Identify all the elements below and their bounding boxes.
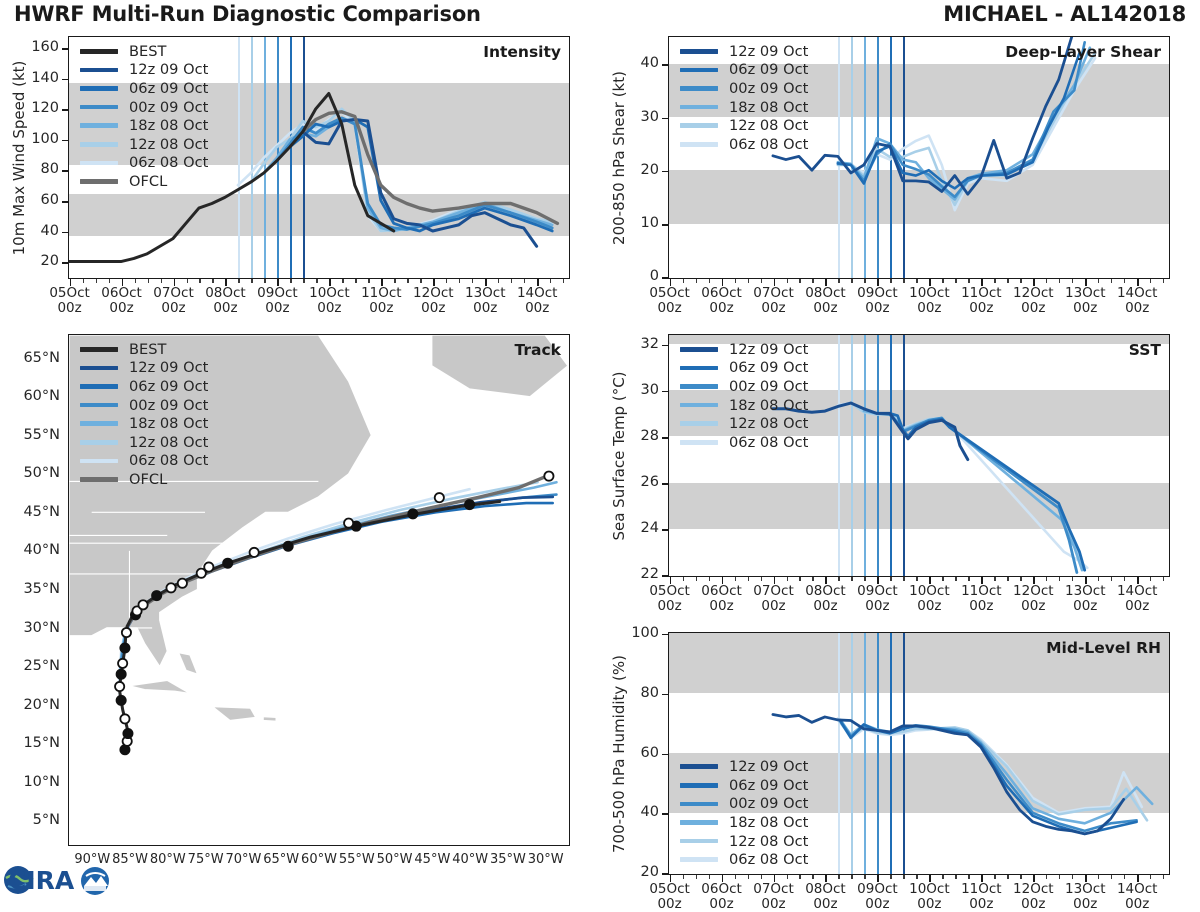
panel-title-track: Track <box>515 341 561 359</box>
legend-line-swatch <box>80 105 118 110</box>
legend-line-swatch <box>80 459 118 464</box>
legend-item: 18z 08 Oct <box>680 813 808 832</box>
legend-label: 06z 09 Oct <box>129 378 208 395</box>
legend-line-swatch <box>80 440 118 445</box>
legend-item: OFCL <box>80 172 208 191</box>
track-marker <box>120 714 129 723</box>
legend-line-swatch <box>680 421 718 426</box>
legend-item: 06z 08 Oct <box>80 452 208 471</box>
track-marker <box>344 519 353 528</box>
lat-tick-label: 5°N <box>33 812 60 828</box>
legend-item: 06z 08 Oct <box>80 154 208 173</box>
legend-label: 06z 08 Oct <box>729 136 808 153</box>
landmass <box>263 717 276 722</box>
legend-label: 06z 08 Oct <box>129 154 208 171</box>
legend-line-swatch <box>80 421 118 426</box>
legend-line-swatch <box>80 123 118 128</box>
legend-label: 00z 09 Oct <box>729 378 808 395</box>
legend-line-swatch <box>680 142 718 147</box>
legend-label: 12z 09 Oct <box>129 359 208 376</box>
track-marker <box>435 493 444 502</box>
legend-line-swatch <box>680 764 718 769</box>
legend-item: BEST <box>80 42 208 61</box>
track-marker <box>544 471 553 480</box>
landmass <box>69 721 509 844</box>
track-marker <box>152 591 161 600</box>
legend-line-swatch <box>680 123 718 128</box>
landmass <box>213 707 256 721</box>
legend-item: 06z 08 Oct <box>680 850 808 869</box>
lat-tick-label: 60°N <box>23 388 60 404</box>
track-marker <box>166 583 175 592</box>
legend-shear: 12z 09 Oct06z 09 Oct00z 09 Oct18z 08 Oct… <box>680 42 808 154</box>
cira-wordmark: CIRA <box>8 866 75 895</box>
legend-line-swatch <box>680 86 718 91</box>
legend-line-swatch <box>80 347 118 352</box>
legend-label: 00z 09 Oct <box>729 795 808 812</box>
legend-item: 12z 09 Oct <box>80 359 208 378</box>
legend-item: 12z 08 Oct <box>680 414 808 433</box>
lat-tick-label: 65°N <box>23 350 60 366</box>
track-marker <box>117 696 126 705</box>
legend-label: 06z 09 Oct <box>729 61 808 78</box>
legend-line-swatch <box>80 179 118 184</box>
legend-line-swatch <box>80 68 118 73</box>
cira-logo-svg: CIRA <box>2 856 120 900</box>
legend-item: 06z 09 Oct <box>680 359 808 378</box>
legend-item: 06z 09 Oct <box>680 776 808 795</box>
lat-tick-label: 20°N <box>23 697 60 713</box>
legend-line-swatch <box>80 49 118 54</box>
legend-sst: 12z 09 Oct06z 09 Oct00z 09 Oct18z 08 Oct… <box>680 340 808 452</box>
legend-item: 06z 09 Oct <box>80 79 208 98</box>
legend-label: OFCL <box>129 173 167 190</box>
legend-line-swatch <box>680 857 718 862</box>
landmass <box>130 680 190 693</box>
lat-tick-label: 10°N <box>23 774 60 790</box>
legend-item: 18z 08 Oct <box>80 116 208 135</box>
lat-tick-label: 25°N <box>23 658 60 674</box>
legend-line-swatch <box>80 403 118 408</box>
legend-line-swatch <box>80 86 118 91</box>
legend-item: 12z 08 Oct <box>680 832 808 851</box>
legend-label: 00z 09 Oct <box>129 99 208 116</box>
track-marker <box>204 562 213 571</box>
legend-line-swatch <box>680 68 718 73</box>
legend-line-swatch <box>80 477 118 482</box>
legend-item: 12z 09 Oct <box>680 42 808 61</box>
legend-item: 12z 09 Oct <box>80 61 208 80</box>
track-marker <box>122 628 131 637</box>
legend-line-swatch <box>680 440 718 445</box>
legend-label: 12z 08 Oct <box>729 415 808 432</box>
legend-item: 12z 08 Oct <box>80 135 208 154</box>
lat-tick-label: 45°N <box>23 504 60 520</box>
legend-label: BEST <box>129 43 166 60</box>
legend-item: 00z 09 Oct <box>80 98 208 117</box>
panel-title-shear: Deep-Layer Shear <box>1005 43 1161 61</box>
legend-label: 12z 09 Oct <box>729 341 808 358</box>
legend-rh: 12z 09 Oct06z 09 Oct00z 09 Oct18z 08 Oct… <box>680 757 808 869</box>
legend-line-swatch <box>80 366 118 371</box>
legend-label: 18z 08 Oct <box>729 397 808 414</box>
legend-line-swatch <box>680 366 718 371</box>
legend-line-swatch <box>680 783 718 788</box>
legend-item: 06z 09 Oct <box>80 377 208 396</box>
legend-label: 06z 09 Oct <box>729 777 808 794</box>
panel-title-rh: Mid-Level RH <box>1046 639 1161 657</box>
lat-tick-label: 50°N <box>23 465 60 481</box>
track-marker <box>118 659 127 668</box>
legend-line-swatch <box>680 403 718 408</box>
track-marker <box>117 670 126 679</box>
lat-tick-label: 40°N <box>23 542 60 558</box>
legend-item: 18z 08 Oct <box>80 414 208 433</box>
lon-tick-label: 30°W <box>521 853 571 867</box>
legend-item: 12z 08 Oct <box>680 116 808 135</box>
legend-item: 12z 08 Oct <box>80 433 208 452</box>
legend-line-swatch <box>680 105 718 110</box>
legend-track: BEST12z 09 Oct06z 09 Oct00z 09 Oct18z 08… <box>80 340 208 489</box>
legend-item: 06z 08 Oct <box>680 135 808 154</box>
legend-line-swatch <box>680 839 718 844</box>
legend-label: 18z 08 Oct <box>129 117 208 134</box>
legend-label: OFCL <box>129 471 167 488</box>
track-marker <box>284 542 293 551</box>
panel-title-sst: SST <box>1129 341 1161 359</box>
legend-item: 12z 09 Oct <box>680 757 808 776</box>
legend-item: 18z 08 Oct <box>680 396 808 415</box>
legend-label: 00z 09 Oct <box>129 397 208 414</box>
legend-item: 06z 08 Oct <box>680 433 808 452</box>
legend-item: 00z 09 Oct <box>680 795 808 814</box>
cira-logo: CIRA <box>2 856 120 900</box>
legend-label: 12z 09 Oct <box>729 43 808 60</box>
legend-label: 12z 09 Oct <box>729 758 808 775</box>
legend-label: 06z 08 Oct <box>729 851 808 868</box>
legend-item: 12z 09 Oct <box>680 340 808 359</box>
lat-tick-label: 35°N <box>23 581 60 597</box>
legend-label: 18z 08 Oct <box>129 415 208 432</box>
legend-label: BEST <box>129 341 166 358</box>
legend-label: 06z 09 Oct <box>729 359 808 376</box>
legend-item: BEST <box>80 340 208 359</box>
lat-tick-label: 55°N <box>23 427 60 443</box>
legend-label: 06z 08 Oct <box>729 434 808 451</box>
legend-label: 12z 09 Oct <box>129 61 208 78</box>
track-marker <box>223 559 232 568</box>
track-marker <box>123 729 132 738</box>
track-marker <box>120 643 129 652</box>
landmass <box>179 653 198 675</box>
legend-item: 06z 09 Oct <box>680 61 808 80</box>
track-marker <box>250 548 259 557</box>
track-marker <box>408 509 417 518</box>
track-marker <box>115 682 124 691</box>
legend-label: 18z 08 Oct <box>729 814 808 831</box>
legend-label: 12z 08 Oct <box>729 117 808 134</box>
legend-item: OFCL <box>80 470 208 489</box>
legend-intensity: BEST12z 09 Oct06z 09 Oct00z 09 Oct18z 08… <box>80 42 208 191</box>
legend-line-swatch <box>80 161 118 166</box>
legend-line-swatch <box>680 347 718 352</box>
lat-tick-label: 15°N <box>23 735 60 751</box>
legend-label: 06z 09 Oct <box>129 80 208 97</box>
legend-label: 06z 08 Oct <box>129 452 208 469</box>
legend-line-swatch <box>680 49 718 54</box>
panel-title-intensity: Intensity <box>483 43 561 61</box>
legend-line-swatch <box>80 384 118 389</box>
legend-line-swatch <box>680 802 718 807</box>
legend-label: 12z 08 Oct <box>129 136 208 153</box>
legend-item: 00z 09 Oct <box>680 377 808 396</box>
track-marker <box>465 500 474 509</box>
legend-item: 00z 09 Oct <box>80 396 208 415</box>
legend-item: 18z 08 Oct <box>680 98 808 117</box>
legend-line-swatch <box>80 142 118 147</box>
legend-line-swatch <box>680 384 718 389</box>
lat-tick-label: 30°N <box>23 620 60 636</box>
legend-label: 12z 08 Oct <box>729 833 808 850</box>
legend-line-swatch <box>680 820 718 825</box>
legend-label: 12z 08 Oct <box>129 434 208 451</box>
legend-label: 00z 09 Oct <box>729 80 808 97</box>
legend-label: 18z 08 Oct <box>729 99 808 116</box>
legend-item: 00z 09 Oct <box>680 79 808 98</box>
track-marker <box>138 600 147 609</box>
track-marker <box>178 579 187 588</box>
